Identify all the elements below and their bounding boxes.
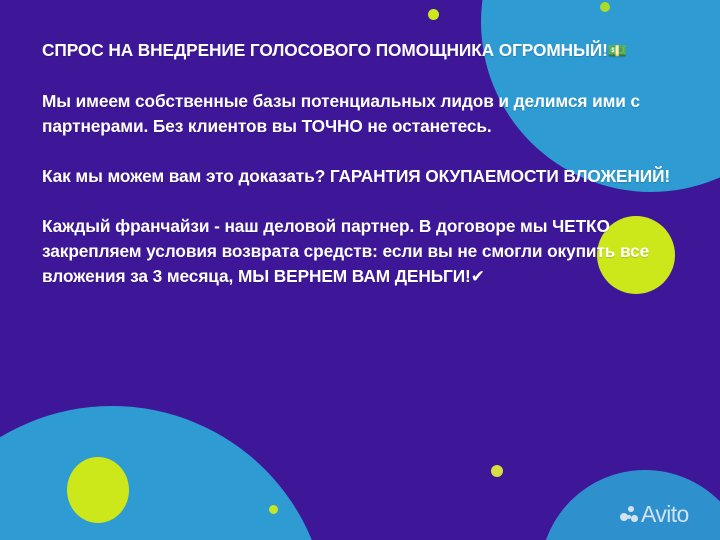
poster-canvas: СПРОС НА ВНЕДРЕНИЕ ГОЛОСОВОГО ПОМОЩНИКА …: [0, 0, 720, 540]
headline-text: СПРОС НА ВНЕДРЕНИЕ ГОЛОСОВОГО ПОМОЩНИКА …: [42, 40, 608, 60]
avito-wordmark: Avito: [641, 503, 689, 526]
refund-paragraph: Каждый франчайзи - наш деловой партнер. …: [42, 214, 702, 290]
refund-text: Каждый франчайзи - наш деловой партнер. …: [42, 216, 649, 286]
leads-paragraph: Мы имеем собственные базы потенциальных …: [42, 89, 702, 139]
blue-circle-bottom-left: [0, 406, 328, 540]
lime-dot-top-left: [428, 9, 439, 20]
lime-dot-top-right: [600, 2, 610, 12]
guarantee-paragraph: Как мы можем вам это доказать? ГАРАНТИЯ …: [42, 164, 702, 189]
poster-text-content: СПРОС НА ВНЕДРЕНИЕ ГОЛОСОВОГО ПОМОЩНИКА …: [42, 38, 702, 290]
lime-dot-lower-left: [269, 505, 278, 514]
check-mark-icon: ✔: [471, 267, 485, 287]
leads-text: Мы имеем собственные базы потенциальных …: [42, 91, 640, 136]
avito-watermark: Avito: [620, 503, 689, 526]
headline-paragraph: СПРОС НА ВНЕДРЕНИЕ ГОЛОСОВОГО ПОМОЩНИКА …: [42, 38, 702, 64]
lime-dot-mid-bottom: [491, 465, 503, 477]
money-banknote-icon: 💵: [608, 42, 627, 60]
guarantee-text: Как мы можем вам это доказать? ГАРАНТИЯ …: [42, 166, 670, 186]
lime-circle-bottom-left: [67, 457, 129, 523]
avito-dots-icon: [620, 506, 637, 523]
